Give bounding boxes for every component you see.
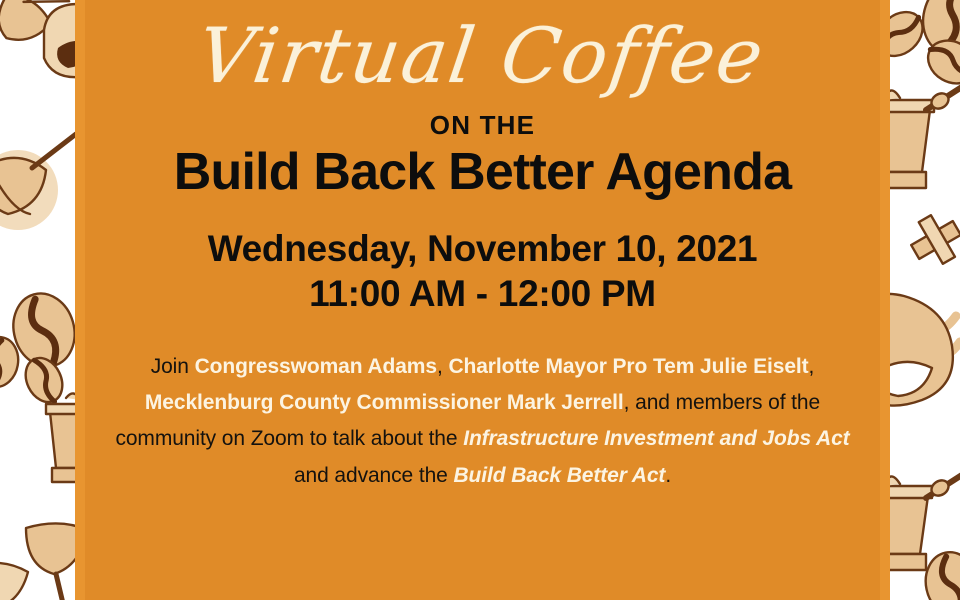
event-description: Join Congresswoman Adams, Charlotte Mayo… — [103, 349, 863, 493]
coffee-scoop-icon — [0, 563, 28, 600]
panel-edge-right — [880, 0, 890, 600]
script-title: Virtual Coffee — [78, 0, 886, 94]
desc-comma-2: , — [809, 355, 815, 378]
coffee-scoop-icon — [0, 134, 76, 230]
flyer-content: Virtual Coffee ON THE Build Back Better … — [85, 0, 880, 600]
desc-comma-1: , — [437, 355, 448, 378]
event-time: 11:00 AM - 12:00 PM — [85, 273, 880, 316]
speaker-name-eiselt: Charlotte Mayor Pro Tem Julie Eiselt — [448, 355, 808, 378]
desc-conjunction: and advance the — [294, 464, 454, 487]
eyebrow-label: ON THE — [85, 112, 880, 138]
speaker-name-adams: Congresswoman Adams — [195, 355, 437, 378]
speaker-name-jerrell: Mecklenburg County Commissioner Mark Jer… — [145, 391, 624, 414]
virtual-coffee-flyer: Virtual Coffee ON THE Build Back Better … — [0, 0, 960, 600]
desc-period: . — [665, 464, 671, 487]
desc-join: Join — [151, 355, 195, 378]
page-title: Build Back Better Agenda — [85, 144, 880, 200]
act-name-build-back-better: Build Back Better Act — [453, 464, 665, 487]
act-name-infrastructure: Infrastructure Investment and Jobs Act — [463, 427, 849, 450]
coffee-bean-icon — [920, 32, 960, 92]
coffee-grinder-icon — [903, 207, 960, 273]
event-date: Wednesday, November 10, 2021 — [85, 228, 880, 271]
